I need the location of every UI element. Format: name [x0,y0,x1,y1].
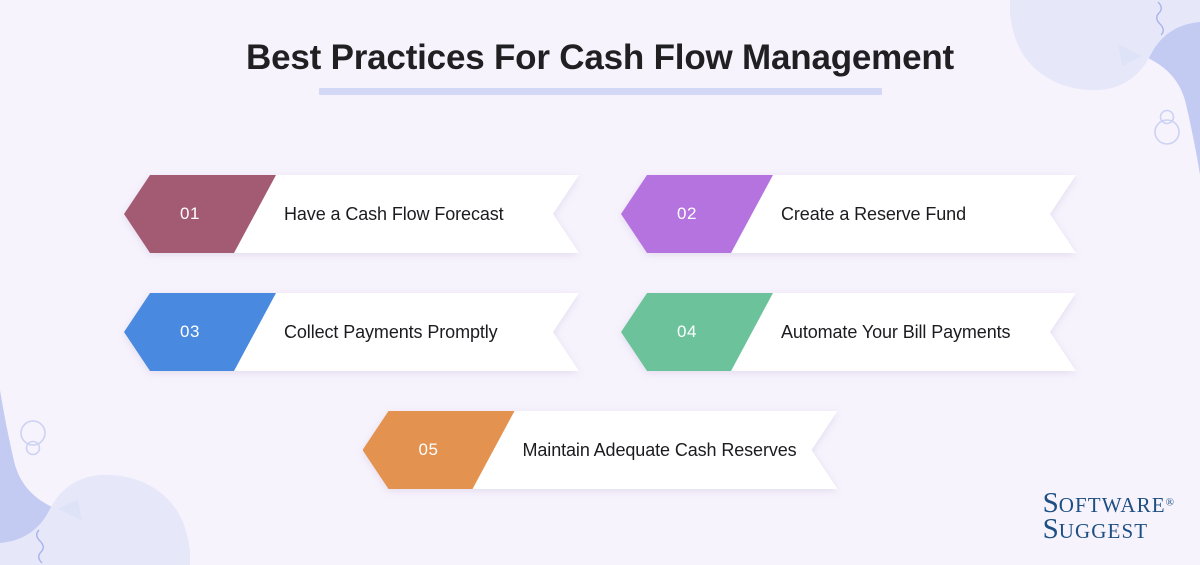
softwaresuggest-logo[interactable]: SOFTWARE® SUGGEST [1043,490,1174,543]
outline-circle-small [1161,111,1174,124]
card-row-3: 05 Maintain Adequate Cash Reserves [363,411,838,489]
logo-suggest-text: UGGEST [1059,519,1148,543]
outline-circle-large [1155,120,1179,144]
logo-line-1: SOFTWARE® [1043,490,1174,517]
card-number: 05 [419,440,439,460]
header: Best Practices For Cash Flow Management [0,0,1200,95]
practice-card-02[interactable]: 02 Create a Reserve Fund [621,175,1076,253]
registered-trademark-icon: ® [1166,496,1174,508]
practice-card-04[interactable]: 04 Automate Your Bill Payments [621,293,1076,371]
practice-card-03[interactable]: 03 Collect Payments Promptly [124,293,579,371]
card-number: 04 [677,322,697,342]
logo-software-text: OFTWARE [1059,493,1166,517]
practice-card-01[interactable]: 01 Have a Cash Flow Forecast [124,175,579,253]
card-label: Have a Cash Flow Forecast [284,175,504,253]
logo-s-bottom: S [1043,513,1059,545]
page-title: Best Practices For Cash Flow Management [0,38,1200,77]
card-label: Create a Reserve Fund [781,175,966,253]
card-number: 03 [180,322,200,342]
card-label: Collect Payments Promptly [284,293,498,371]
practice-card-05[interactable]: 05 Maintain Adequate Cash Reserves [363,411,838,489]
squiggle-line [37,530,44,563]
card-row-2: 03 Collect Payments Promptly 04 Automate… [124,293,1076,371]
card-label: Automate Your Bill Payments [781,293,1010,371]
card-row-1: 01 Have a Cash Flow Forecast 02 Create a… [124,175,1076,253]
card-number: 02 [677,204,697,224]
triangle-accent [58,499,82,521]
logo-line-2: SUGGEST [1043,516,1174,543]
card-number: 01 [180,204,200,224]
card-label: Maintain Adequate Cash Reserves [523,411,797,489]
practice-cards: 01 Have a Cash Flow Forecast 02 Create a… [0,175,1200,489]
title-underline [319,88,882,95]
